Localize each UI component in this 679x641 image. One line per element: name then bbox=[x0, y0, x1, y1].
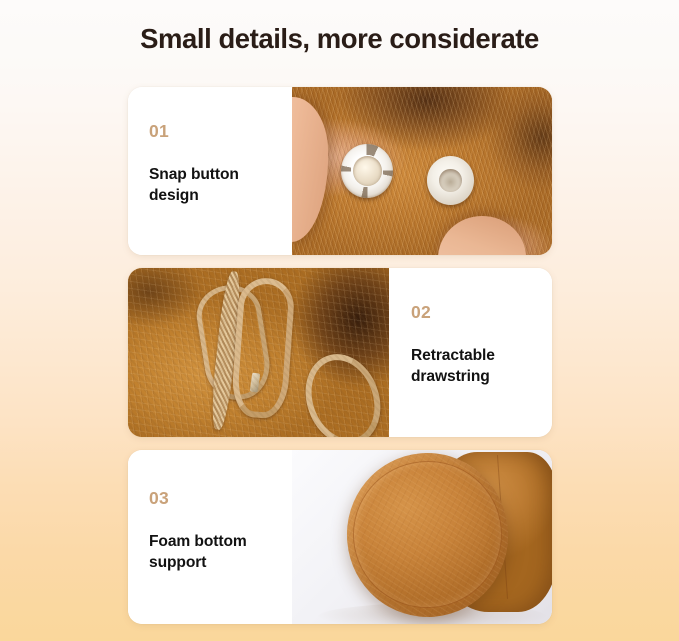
snap-button-photo bbox=[292, 87, 552, 255]
feature-card-foam-bottom: 03 Foam bottom support bbox=[128, 450, 552, 624]
foam-bottom-photo bbox=[292, 450, 552, 624]
feature-heading-03-line1: Foam bottom bbox=[149, 533, 247, 550]
snap-button-open-icon bbox=[341, 144, 393, 198]
page-title: Small details, more considerate bbox=[140, 24, 539, 54]
feature-heading-03: Foam bottom support bbox=[149, 531, 281, 574]
feature-heading-01-line2: design bbox=[149, 187, 199, 204]
title-bar: Small details, more considerate bbox=[0, 24, 679, 54]
feature-number-02: 02 bbox=[411, 304, 552, 322]
snap-button-closed-icon bbox=[427, 156, 474, 205]
feature-heading-02-line1: Retractable bbox=[411, 347, 495, 364]
feature-heading-01: Snap button design bbox=[149, 164, 281, 207]
feature-card-text-block: 02 Retractable drawstring bbox=[389, 268, 552, 437]
feature-heading-01-line1: Snap button bbox=[149, 166, 239, 183]
feature-heading-02-line2: drawstring bbox=[411, 368, 490, 385]
feature-number-03: 03 bbox=[149, 490, 292, 508]
product-detail-panel: Small details, more considerate 01 Snap … bbox=[0, 0, 679, 641]
feature-card-text-block: 01 Snap button design bbox=[128, 87, 292, 255]
feature-card-text-block: 03 Foam bottom support bbox=[128, 450, 292, 624]
feature-heading-02: Retractable drawstring bbox=[411, 345, 543, 388]
feature-card-drawstring: 02 Retractable drawstring bbox=[128, 268, 552, 437]
feature-card-snap-button: 01 Snap button design bbox=[128, 87, 552, 255]
feature-number-01: 01 bbox=[149, 123, 292, 141]
feature-heading-03-line2: support bbox=[149, 554, 206, 571]
drawstring-photo bbox=[128, 268, 389, 437]
